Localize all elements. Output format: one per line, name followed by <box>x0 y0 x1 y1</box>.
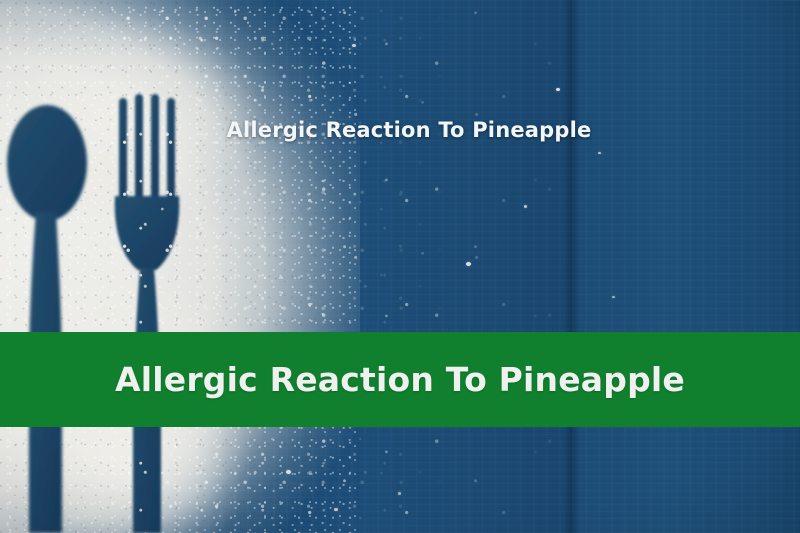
hero-title: Allergic Reaction To Pineapple <box>0 118 800 142</box>
banner-title: Allergic Reaction To Pineapple <box>115 363 685 396</box>
vignette-overlay <box>0 0 800 533</box>
background-photo <box>0 0 800 533</box>
screenshot-canvas: Allergic Reaction To Pineapple Allergic … <box>0 0 800 533</box>
green-banner: Allergic Reaction To Pineapple <box>0 332 800 427</box>
